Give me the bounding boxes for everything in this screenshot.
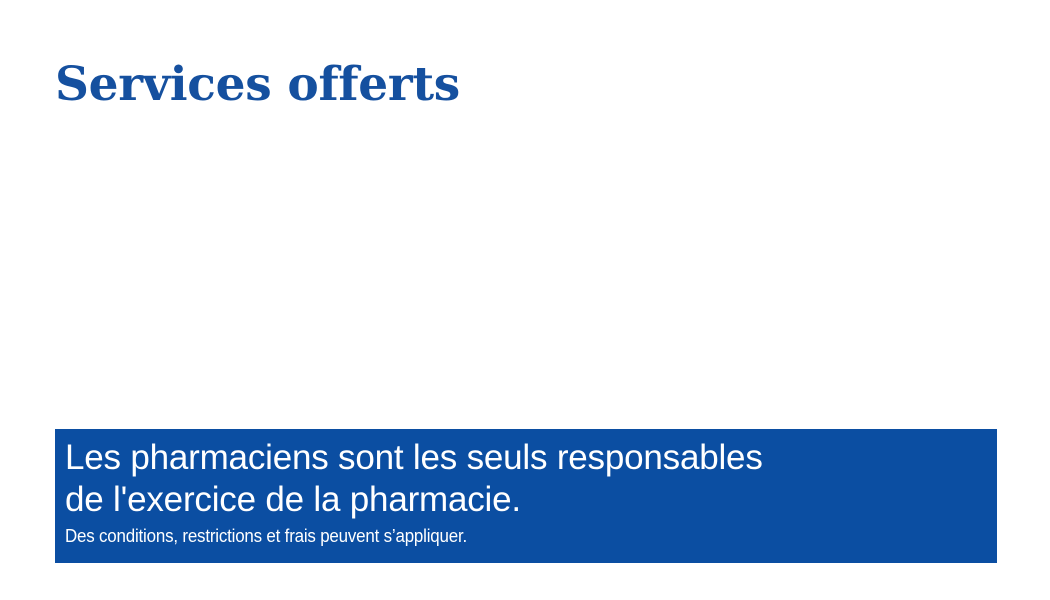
page-title: Services offerts [55, 59, 460, 111]
callout-headline: Les pharmaciens sont les seuls responsab… [65, 437, 987, 521]
slide-content-area [55, 135, 997, 420]
presentation-slide: Services offerts Les pharmaciens sont le… [0, 0, 1050, 600]
callout-banner: Les pharmaciens sont les seuls responsab… [55, 429, 997, 563]
callout-subline: Des conditions, restrictions et frais pe… [65, 525, 932, 547]
